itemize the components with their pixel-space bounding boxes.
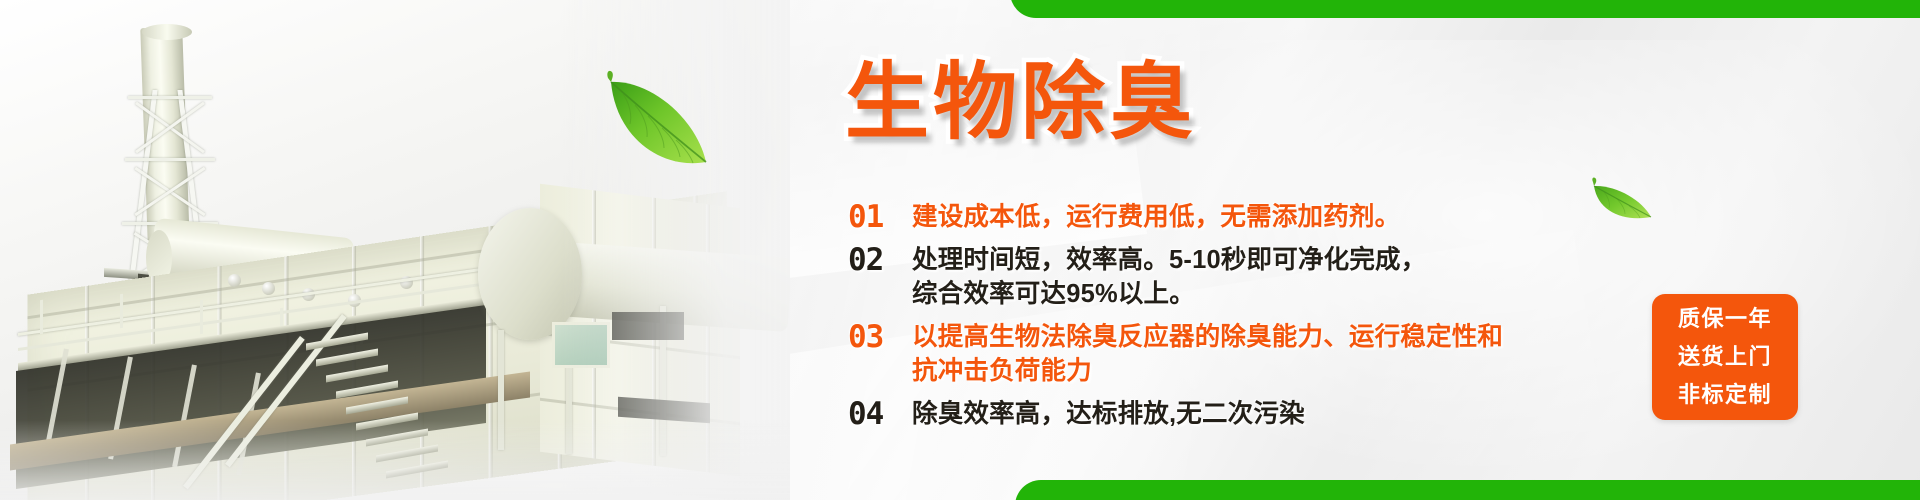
feature-line: 以提高生物法除臭反应器的除臭能力、运行稳定性和 (912, 323, 1503, 351)
rail-post (200, 300, 203, 334)
feature-text: 处理时间短，效率高。5-10秒即可净化完成， 综合效率可达95%以上。 (912, 243, 1426, 311)
housing-bolt (228, 274, 241, 287)
tower-brace (128, 96, 212, 99)
rail-post (40, 300, 43, 334)
feature-number: 02 (848, 243, 912, 277)
feature-text: 除臭效率高，达标排放,无二次污染 (912, 397, 1305, 431)
guarantee-badge: 质保一年 送货上门 非标定制 (1652, 294, 1798, 420)
feature-item-01: 01 建设成本低，运行费用低，无需添加药剂。 (848, 200, 1648, 234)
housing-bolt (262, 282, 275, 295)
feature-line: 除臭效率高，达标排放,无二次污染 (912, 400, 1305, 428)
feature-item-03: 03 以提高生物法除臭反应器的除臭能力、运行稳定性和 抗冲击负荷能力 (848, 320, 1648, 388)
exhaust-stack-cap (142, 24, 192, 40)
promo-banner: 生物除臭 01 建设成本低，运行费用低，无需添加药剂。 02 处理时间短，效率高… (0, 0, 1920, 500)
feature-text: 以提高生物法除臭反应器的除臭能力、运行稳定性和 抗冲击负荷能力 (912, 320, 1503, 388)
tower-brace (125, 158, 215, 161)
rail-post (120, 294, 123, 328)
feature-item-02: 02 处理时间短，效率高。5-10秒即可净化完成， 综合效率可达95%以上。 (848, 243, 1648, 311)
badge-line-custom: 非标定制 (1678, 376, 1772, 414)
feature-number: 04 (848, 397, 912, 431)
feature-line: 抗冲击负荷能力 (912, 354, 1503, 388)
feature-line: 建设成本低，运行费用低，无需添加药剂。 (912, 203, 1400, 231)
feature-list: 01 建设成本低，运行费用低，无需添加药剂。 02 处理时间短，效率高。5-10… (848, 200, 1648, 440)
badge-line-warranty: 质保一年 (1678, 300, 1772, 338)
page-title: 生物除臭 (845, 60, 1197, 144)
photo-bottom-fade (0, 420, 790, 500)
feature-number: 03 (848, 320, 912, 354)
green-bar-bottom (1015, 480, 1920, 500)
green-bar-top (1010, 0, 1920, 18)
feature-line: 综合效率可达95%以上。 (912, 277, 1426, 311)
feature-line: 处理时间短，效率高。5-10秒即可净化完成， (912, 246, 1426, 274)
feature-item-04: 04 除臭效率高，达标排放,无二次污染 (848, 397, 1648, 431)
leaf-icon-large (578, 66, 713, 186)
badge-line-delivery: 送货上门 (1678, 338, 1772, 376)
feature-number: 01 (848, 200, 912, 234)
feature-text: 建设成本低，运行费用低，无需添加药剂。 (912, 200, 1400, 234)
